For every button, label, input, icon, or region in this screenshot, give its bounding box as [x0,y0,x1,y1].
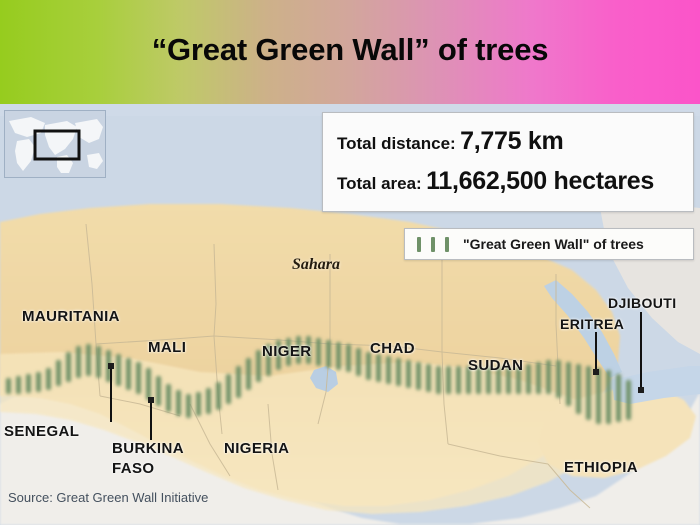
leader-line-senegal [110,366,112,422]
country-label-nigeria: NIGERIA [224,440,289,457]
leader-dot-eritrea [593,369,599,375]
map-legend: "Great Green Wall" of trees [404,228,694,260]
leader-dot-senegal [108,363,114,369]
green-wall-bars-icon [417,236,449,252]
leader-line-djibouti [640,312,642,390]
page-title: “Great Green Wall” of trees [0,32,700,68]
stat-distance: Total distance: 7,775 km [337,127,563,156]
country-label-mali: MALI [148,339,186,356]
leader-dot-djibouti [638,387,644,393]
leader-line-eritrea [595,332,597,372]
country-label-djibouti: DJIBOUTI [608,295,677,311]
stat-distance-label: Total distance: [337,134,456,153]
legend-label: "Great Green Wall" of trees [463,236,644,252]
stat-area-value: 11,662,500 hectares [426,167,654,195]
stat-area: Total area: 11,662,500 hectares [337,167,654,196]
country-label-sudan: SUDAN [468,357,523,374]
country-label-senegal: SENEGAL [4,423,79,440]
country-label-ethiopia: ETHIOPIA [564,459,638,476]
leader-dot-burkina-faso [148,397,154,403]
stat-area-label: Total area: [337,174,422,193]
country-label-mauritania: MAURITANIA [22,308,120,325]
slide-canvas: “Great Green Wall” of trees [0,0,700,525]
world-locator-inset [4,110,106,178]
source-credit: Source: Great Green Wall Initiative [8,490,208,505]
region-label-sahara: Sahara [292,256,340,274]
country-label-chad: CHAD [370,340,415,357]
country-label-burkina: BURKINA [112,440,184,457]
leader-line-burkina-faso [150,400,152,440]
map-figure: Total distance: 7,775 km Total area: 11,… [0,104,700,525]
stat-distance-value: 7,775 km [460,127,563,155]
country-label-faso: FASO [112,460,154,477]
title-banner: “Great Green Wall” of trees [0,0,700,104]
stats-box: Total distance: 7,775 km Total area: 11,… [322,112,694,212]
country-label-niger: NIGER [262,343,312,360]
country-label-eritrea: ERITREA [560,316,624,332]
